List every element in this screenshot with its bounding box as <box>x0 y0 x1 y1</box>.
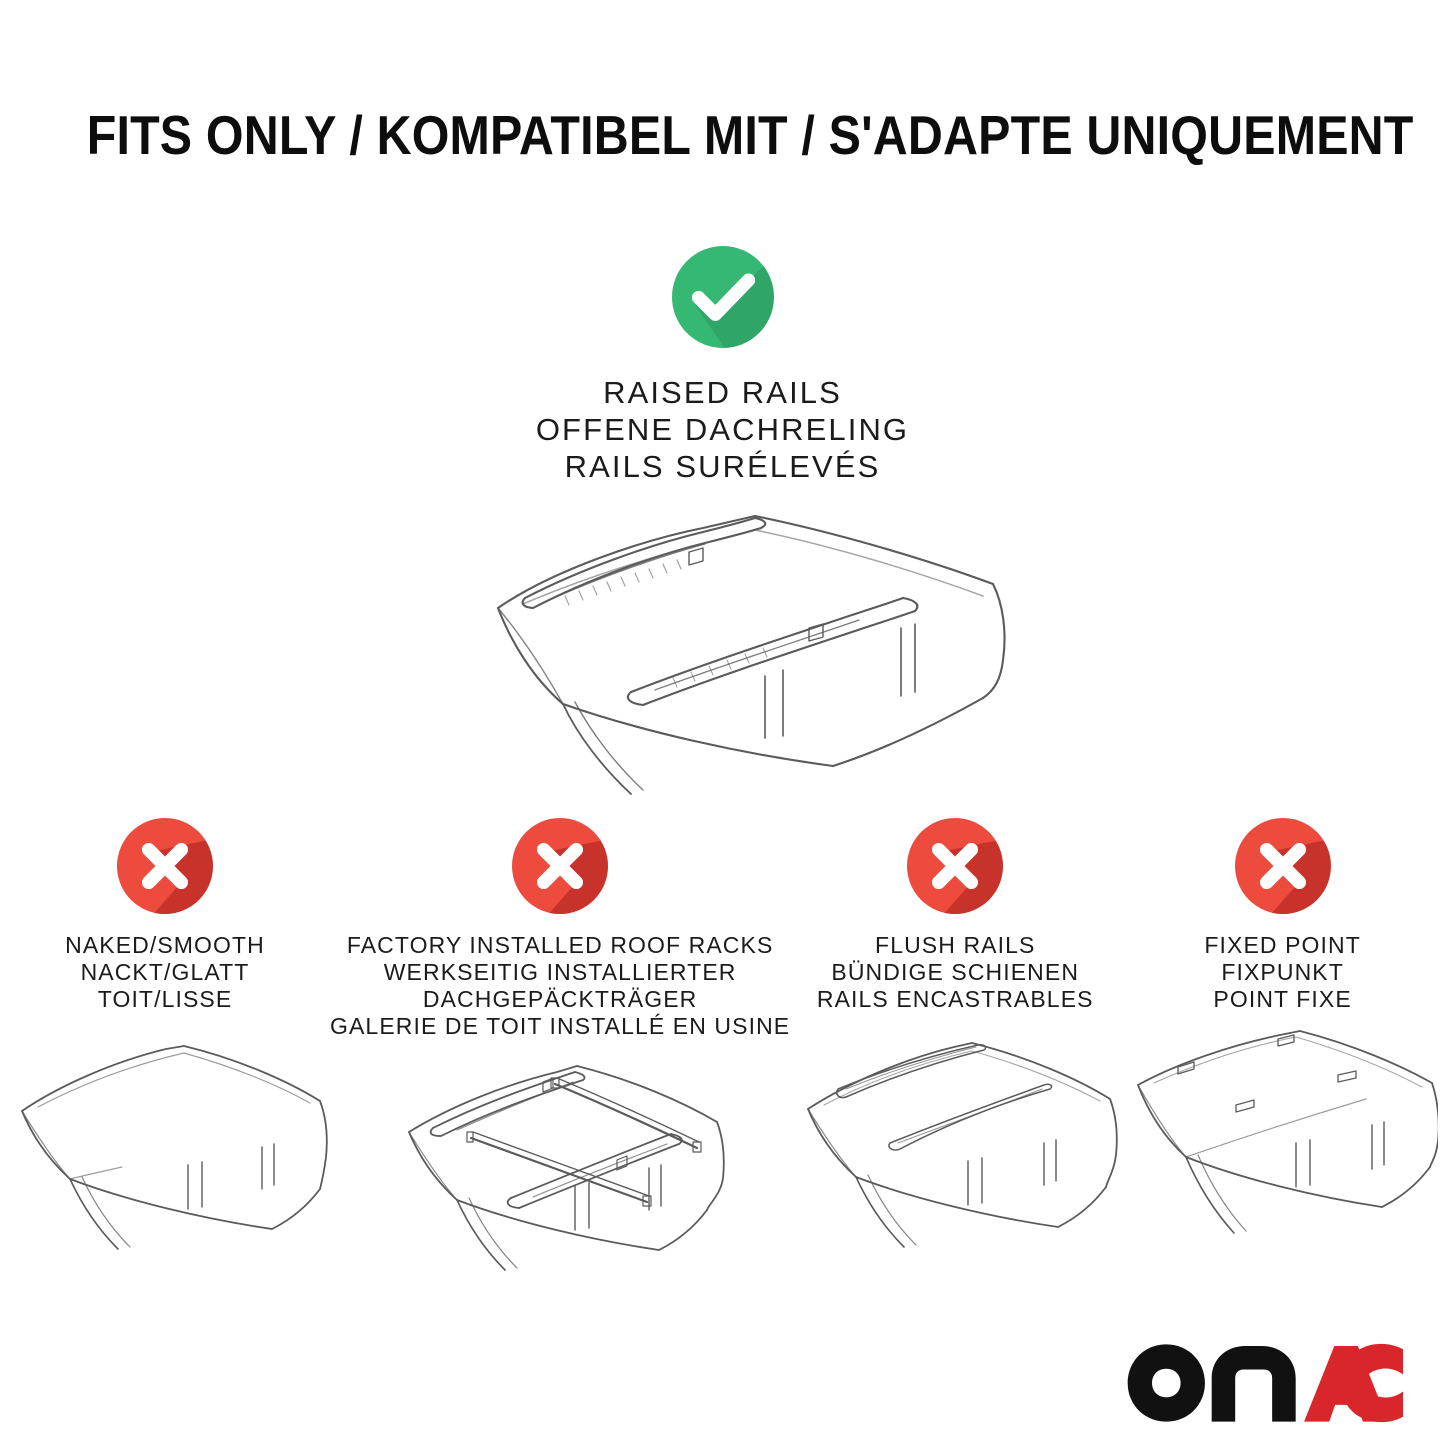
x-circle-icon <box>512 818 608 914</box>
x-circle-icon <box>907 818 1003 914</box>
label-line-2: NACKT/GLATT <box>0 959 330 986</box>
compatible-label: RAISED RAILS OFFENE DACHRELING RAILS SUR… <box>0 374 1445 485</box>
car-roof-raised-rails-illustration <box>403 492 1043 802</box>
omac-logo <box>1126 1341 1403 1425</box>
check-circle-icon <box>672 246 774 348</box>
incompatible-column-factory-roof-racks: FACTORY INSTALLED ROOF RACKS WERKSEITIG … <box>330 818 790 1285</box>
compatible-section: RAISED RAILS OFFENE DACHRELING RAILS SUR… <box>0 246 1445 485</box>
label-line-3: TOIT/LISSE <box>0 986 330 1013</box>
car-roof-naked-smooth-illustration <box>0 1023 330 1258</box>
label-line-4: GALERIE DE TOIT INSTALLÉ EN USINE <box>330 1013 790 1040</box>
label-line-3: POINT FIXE <box>1120 986 1445 1013</box>
incompatible-column-fixed-point: FIXED POINT FIXPUNKT POINT FIXE <box>1120 818 1445 1258</box>
label-line-2: FIXPUNKT <box>1120 959 1445 986</box>
label-line-2: WERKSEITIG INSTALLIERTER <box>330 959 790 986</box>
incompatible-section: NAKED/SMOOTH NACKT/GLATT TOIT/LISSE <box>0 818 1445 1285</box>
car-roof-flush-rails-illustration <box>790 1023 1120 1258</box>
compatible-label-line-2: OFFENE DACHRELING <box>0 411 1445 448</box>
label-line-1: FLUSH RAILS <box>790 932 1120 959</box>
logo-letter-m <box>1211 1346 1295 1422</box>
incompatible-label: FLUSH RAILS BÜNDIGE SCHIENEN RAILS ENCAS… <box>790 932 1120 1013</box>
x-circle-icon <box>117 818 213 914</box>
label-line-2: BÜNDIGE SCHIENEN <box>790 959 1120 986</box>
label-line-1: NAKED/SMOOTH <box>0 932 330 959</box>
logo-letter-o <box>1127 1344 1204 1421</box>
incompatible-column-flush-rails: FLUSH RAILS BÜNDIGE SCHIENEN RAILS ENCAS… <box>790 818 1120 1258</box>
x-circle-icon <box>1235 818 1331 914</box>
incompatible-column-naked-smooth: NAKED/SMOOTH NACKT/GLATT TOIT/LISSE <box>0 818 330 1258</box>
compatible-label-line-3: RAILS SURÉLEVÉS <box>0 448 1445 485</box>
label-line-1: FACTORY INSTALLED ROOF RACKS <box>330 932 790 959</box>
car-roof-fixed-point-illustration <box>1128 1023 1438 1258</box>
incompatible-label: FACTORY INSTALLED ROOF RACKS WERKSEITIG … <box>330 932 790 1040</box>
label-line-3: DACHGEPÄCKTRÄGER <box>330 986 790 1013</box>
incompatible-label: NAKED/SMOOTH NACKT/GLATT TOIT/LISSE <box>0 932 330 1013</box>
page-title: FITS ONLY / KOMPATIBEL MIT / S'ADAPTE UN… <box>87 104 1359 166</box>
car-roof-factory-roof-racks-illustration <box>395 1050 725 1285</box>
label-line-3: RAILS ENCASTRABLES <box>790 986 1120 1013</box>
compatible-label-line-1: RAISED RAILS <box>0 374 1445 411</box>
incompatible-label: FIXED POINT FIXPUNKT POINT FIXE <box>1120 932 1445 1013</box>
label-line-1: FIXED POINT <box>1120 932 1445 959</box>
fitment-infographic: FITS ONLY / KOMPATIBEL MIT / S'ADAPTE UN… <box>0 0 1445 1445</box>
